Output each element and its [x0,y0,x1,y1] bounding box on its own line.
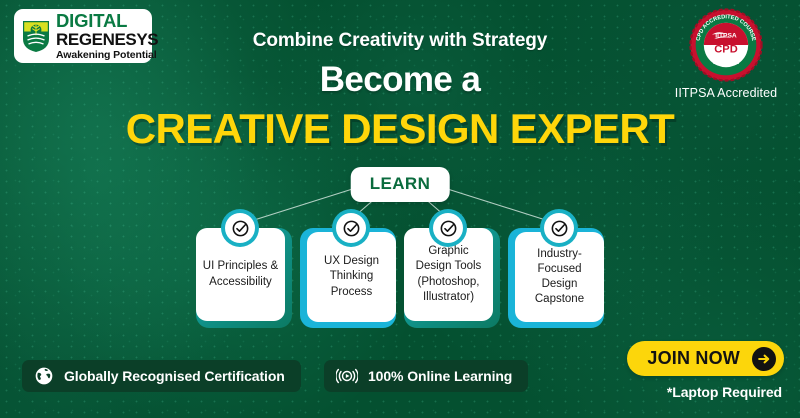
laptop-required-note: *Laptop Required [667,384,782,400]
headline-block: Combine Creativity with Strategy Become … [0,30,800,153]
check-circle-icon [332,209,370,247]
globe-icon [34,366,54,386]
headline-line-2: CREATIVE DESIGN EXPERT [0,105,800,153]
feature-label: Globally Recognised Certification [64,368,285,384]
logo-line-1: DIGITAL [56,12,158,31]
curriculum-card-1[interactable]: UI Principles & Accessibility [196,228,292,328]
curriculum-card-4[interactable]: Industry-Focused Design Capstone [508,228,604,328]
arrow-right-circle-icon [751,346,777,372]
card-label: Graphic Design Tools (Photoshop, Illustr… [404,244,493,305]
feature-label: 100% Online Learning [368,368,512,384]
curriculum-card-3[interactable]: Graphic Design Tools (Photoshop, Illustr… [404,228,500,328]
join-now-label: JOIN NOW [647,348,740,369]
curriculum-cards: UI Principles & Accessibility UX Design … [196,228,604,328]
check-circle-icon [429,209,467,247]
learn-badge: LEARN [351,167,450,202]
join-now-button[interactable]: JOIN NOW [627,341,784,376]
headline-kicker: Combine Creativity with Strategy [0,30,800,52]
feature-pill-certification: Globally Recognised Certification [22,360,301,392]
headline-line-1: Become a [0,60,800,100]
curriculum-card-2[interactable]: UX Design Thinking Process [300,228,396,328]
feature-pill-online: 100% Online Learning [324,360,528,392]
card-label: UI Principles & Accessibility [196,259,285,289]
broadcast-icon [336,366,358,386]
card-label: UX Design Thinking Process [307,254,396,300]
check-circle-icon [540,209,578,247]
promo-banner: DIGITAL REGENESYS Awakening Potential II… [0,0,800,418]
check-circle-icon [221,209,259,247]
card-label: Industry-Focused Design Capstone [515,247,604,308]
